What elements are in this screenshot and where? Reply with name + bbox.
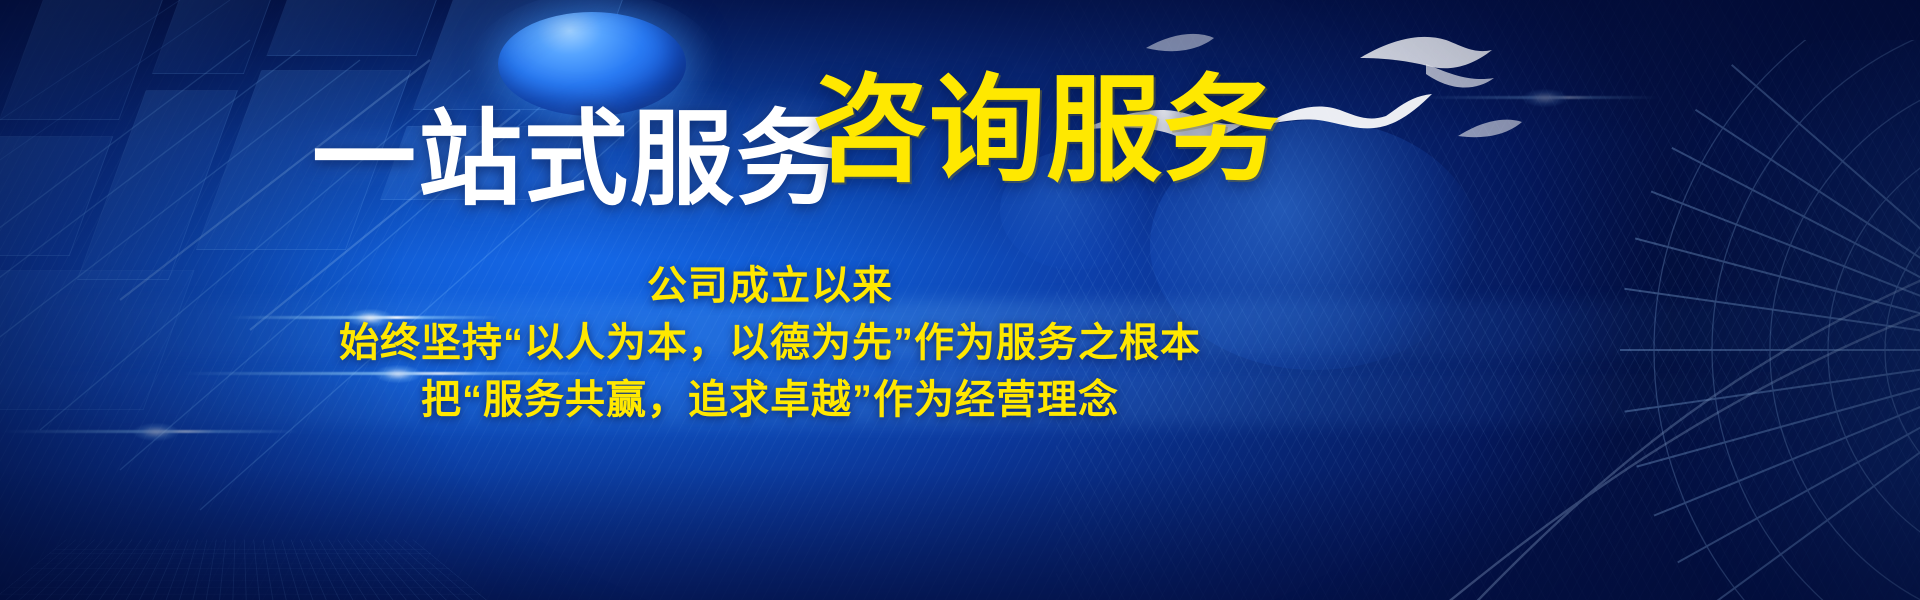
promo-banner: 一站式服务 咨询服务 公司成立以来 始终坚持“以人为本，以德为先”作为服务之根本… <box>0 0 1920 600</box>
subtitle-line-3: 把“服务共赢，追求卓越”作为经营理念 <box>0 372 1540 429</box>
subtitle-block: 公司成立以来 始终坚持“以人为本，以德为先”作为服务之根本 把“服务共赢，追求卓… <box>0 258 1540 428</box>
subtitle-line-2: 始终坚持“以人为本，以德为先”作为服务之根本 <box>0 315 1540 372</box>
headline-primary: 一站式服务 <box>312 108 842 212</box>
headline-accent: 咨询服务 <box>812 72 1280 188</box>
headline-group: 一站式服务 咨询服务 <box>0 0 1920 240</box>
subtitle-line-1: 公司成立以来 <box>0 258 1540 315</box>
